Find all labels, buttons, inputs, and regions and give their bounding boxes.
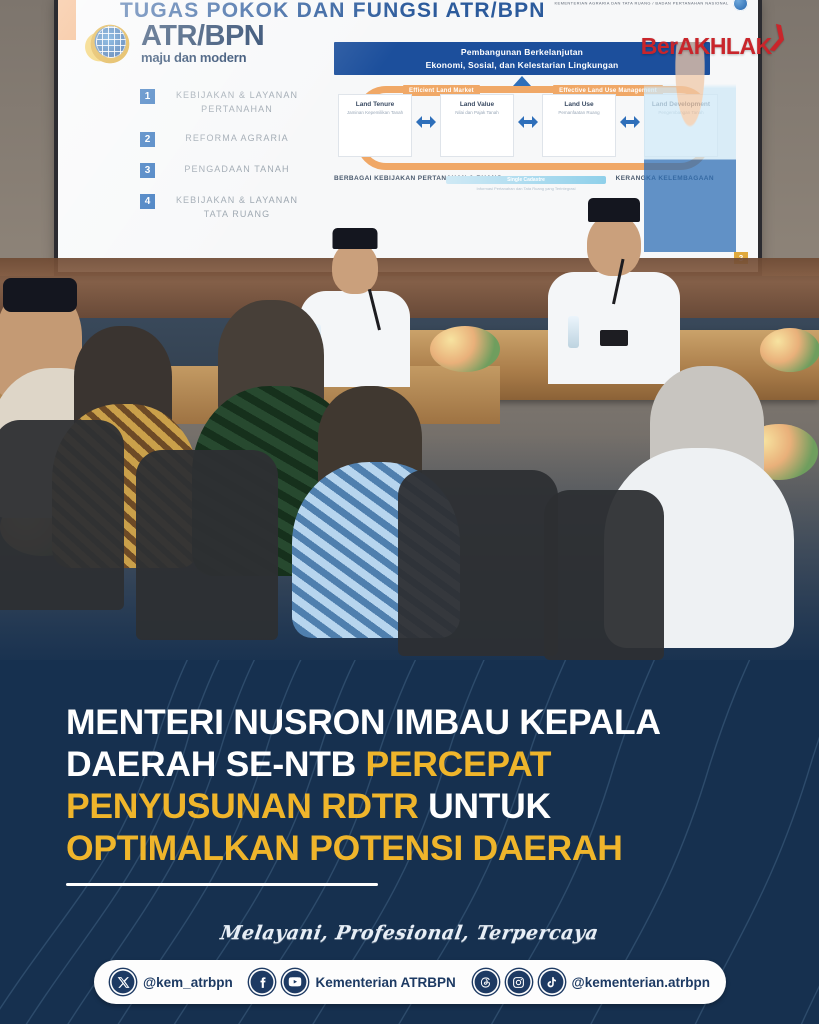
double-arrow-icon: [620, 94, 640, 157]
headline-line-4: OPTIMALKAN POTENSI DAERAH: [66, 828, 766, 870]
diagram-box: Land Value Nilai dan Pajak Tanah: [440, 94, 514, 157]
diagram-banner-line2: Ekonomi, Sosial, dan Kelestarian Lingkun…: [426, 59, 619, 72]
headline-line-2-gold: PERCEPAT: [366, 744, 552, 784]
flower-arrangement: [760, 328, 819, 372]
tiktok-icon[interactable]: [539, 969, 565, 995]
chair: [136, 450, 278, 640]
water-bottle: [568, 316, 579, 348]
atr-bpn-wordmark: ATR/BPN maju dan modern: [141, 23, 264, 65]
x-handle[interactable]: @kem_atrbpn: [143, 975, 233, 990]
headline-line-2: DAERAH SE-NTB PERCEPAT: [66, 744, 766, 786]
tagline: Melayani, Profesional, Terpercaya: [0, 922, 819, 944]
microphone-base: [600, 330, 628, 346]
globe-grid-icon: [96, 26, 126, 58]
speaker-head: [587, 214, 641, 276]
threads-handle[interactable]: @kementerian.atrbpn: [572, 975, 710, 990]
single-cadastre-sub: Informasi Pertanahan dan Tata Ruang yang…: [446, 186, 606, 191]
diagram-box-sub: Jaminan Kepemilikan Tanah: [347, 110, 403, 117]
tupoksi-number: 4: [140, 194, 155, 209]
tupoksi-label: PENGADAAN TANAH: [164, 163, 310, 177]
berakhlak-logo: BerAKHLAK❯: [641, 30, 793, 61]
instagram-icon[interactable]: [506, 969, 532, 995]
up-arrow-icon: [513, 76, 531, 86]
divider-rule: [66, 883, 378, 886]
diagram-box-title: Land Value: [460, 101, 494, 108]
tupoksi-item: 2 REFORMA AGRARIA: [140, 132, 310, 147]
social-group-threads[interactable]: @kementerian.atrbpn: [473, 969, 710, 995]
chair: [398, 470, 558, 656]
globe-icon: [733, 0, 748, 11]
berakhlak-text: BerAKHLAK: [641, 33, 772, 59]
social-group-x[interactable]: @kem_atrbpn: [110, 969, 233, 995]
flower-arrangement: [430, 326, 500, 372]
headline-line-1-text: MENTERI NUSRON IMBAU KEPALA: [66, 702, 661, 742]
atr-bpn-globe-emblem-icon: [84, 16, 136, 72]
diagram-box-title: Land Tenure: [356, 101, 395, 108]
peci-cap-icon: [3, 278, 77, 312]
headline-line-3: PENYUSUNAN RDTR UNTUK: [66, 786, 766, 828]
tupoksi-label: KEBIJAKAN & LAYANAN PERTANAHAN: [164, 89, 310, 116]
tupoksi-list: 1 KEBIJAKAN & LAYANAN PERTANAHAN 2 REFOR…: [140, 89, 310, 237]
youtube-icon[interactable]: [282, 969, 308, 995]
double-arrow-icon: [416, 94, 436, 157]
tupoksi-label: KEBIJAKAN & LAYANAN TATA RUANG: [164, 194, 310, 221]
slide-accent-bar: [58, 0, 76, 40]
facebook-icon[interactable]: [249, 969, 275, 995]
double-arrow-icon: [518, 94, 538, 157]
peci-cap-icon: [333, 228, 378, 249]
logo-main-text: ATR/BPN: [141, 23, 264, 50]
atr-bpn-lockup: ATR/BPN maju dan modern: [84, 16, 264, 72]
headline-line-4-gold: OPTIMALKAN POTENSI DAERAH: [66, 828, 623, 868]
tupoksi-item: 3 PENGADAAN TANAH: [140, 163, 310, 178]
peci-cap-icon: [588, 198, 640, 222]
diagram-banner-line1: Pembangunan Berkelanjutan: [461, 46, 583, 59]
diagram-box-sub: Nilai dan Pajak Tanah: [455, 110, 498, 117]
ministry-mark: KEMENTERIAN AGRARIA DAN TATA RUANG / BAD…: [554, 0, 748, 11]
ministry-mark-text: KEMENTERIAN AGRARIA DAN TATA RUANG / BAD…: [554, 1, 728, 6]
tupoksi-number: 2: [140, 132, 155, 147]
diagram-box-title: Land Use: [564, 101, 593, 108]
single-cadastre-bar: Single Cadastre: [446, 176, 606, 184]
chair: [0, 420, 124, 610]
official-head: [332, 242, 378, 294]
chair: [544, 490, 664, 660]
tupoksi-number: 1: [140, 89, 155, 104]
tupoksi-number: 3: [140, 163, 155, 178]
logo-sub-text: maju dan modern: [141, 50, 264, 65]
headline-line-3-white: UNTUK: [428, 786, 551, 826]
social-media-poster: TUGAS POKOK DAN FUNGSI ATR/BPN KEMENTERI…: [0, 0, 819, 1024]
social-media-bar: @kem_atrbpn Kementerian ATRBPN: [94, 960, 726, 1004]
conference-room-photo: TUGAS POKOK DAN FUNGSI ATR/BPN KEMENTERI…: [0, 0, 819, 700]
headline-banner: MENTERI NUSRON IMBAU KEPALA DAERAH SE-NT…: [0, 660, 819, 1024]
tupoksi-label: REFORMA AGRARIA: [164, 132, 310, 146]
tupoksi-item: 1 KEBIJAKAN & LAYANAN PERTANAHAN: [140, 89, 310, 116]
chevron-icon: ❯: [767, 20, 790, 54]
social-group-meta[interactable]: Kementerian ATRBPN: [249, 969, 455, 995]
diagram-box-sub: Pemanfaatan Ruang: [558, 110, 599, 117]
diagram-box: Land Tenure Jaminan Kepemilikan Tanah: [338, 94, 412, 157]
diagram-box: Land Use Pemanfaatan Ruang: [542, 94, 616, 157]
x-twitter-icon[interactable]: [110, 969, 136, 995]
headline-line-1: MENTERI NUSRON IMBAU KEPALA: [66, 702, 766, 744]
threads-icon[interactable]: [473, 969, 499, 995]
headline-line-2-white: DAERAH SE-NTB: [66, 744, 366, 784]
headline-text: MENTERI NUSRON IMBAU KEPALA DAERAH SE-NT…: [66, 702, 766, 870]
headline-line-3-gold: PENYUSUNAN RDTR: [66, 786, 428, 826]
meta-handle[interactable]: Kementerian ATRBPN: [315, 975, 455, 990]
tupoksi-item: 4 KEBIJAKAN & LAYANAN TATA RUANG: [140, 194, 310, 221]
